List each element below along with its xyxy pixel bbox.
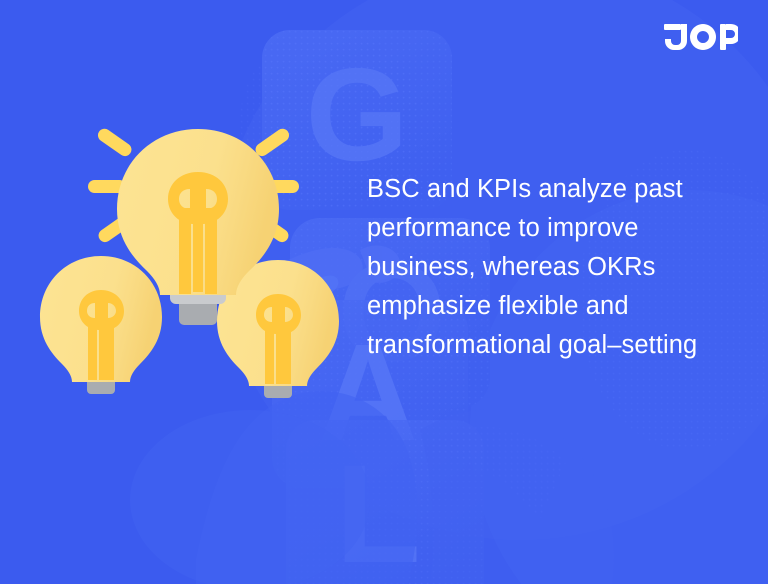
ray-top-right: [253, 126, 292, 158]
ray-bottom-left: [96, 212, 135, 244]
main-bulb-filament: [168, 172, 228, 292]
main-bulb-rays: [88, 126, 299, 244]
ray-top-left: [95, 126, 134, 158]
watermark-block-l: L: [286, 420, 484, 584]
main-bulb-base: [160, 253, 236, 325]
left-bulb-base: [72, 325, 130, 394]
right-bulb-glass: [217, 260, 339, 386]
main-bulb-glass: [117, 129, 279, 295]
left-bulb-filament: [79, 290, 124, 380]
right-bulb-base: [249, 329, 307, 398]
left-bulb: [40, 256, 162, 394]
right-bulb: [217, 260, 339, 398]
ray-bottom-right: [252, 212, 291, 244]
quote-text: BSC and KPIs analyze past performance to…: [367, 170, 727, 365]
logo-mark: [664, 24, 738, 50]
left-bulb-glass: [40, 256, 162, 382]
ray-left: [88, 180, 126, 193]
svg-text:L: L: [335, 435, 421, 584]
svg-text:G: G: [306, 41, 409, 188]
right-bulb-filament: [256, 294, 301, 384]
jop-logo[interactable]: JOP: [664, 22, 738, 52]
main-bulb: [117, 129, 279, 325]
quote-card: G O A L: [0, 0, 768, 584]
ray-right: [261, 180, 299, 193]
